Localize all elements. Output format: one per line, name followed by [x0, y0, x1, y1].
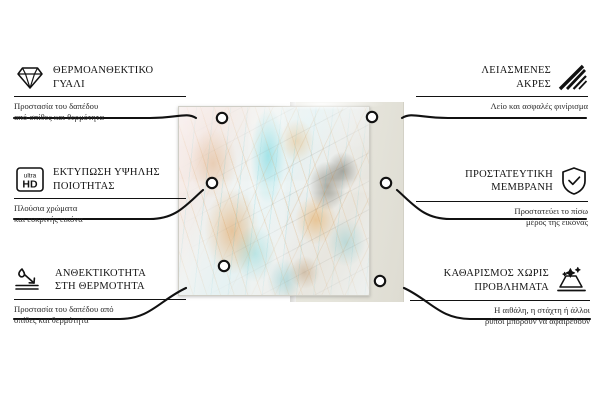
feature-right-3: ΚΑΘΑΡΙΣΜΟΣ ΧΩΡΙΣ ΠΡΟΒΛΗΜΑΤΑ Η αιθάλη, η … [410, 266, 590, 327]
ultra-hd-icon: ultra HD [14, 166, 46, 193]
feature-right-3-description: Η αιθάλη, η στάχτη ή άλλοι ρύποι μπορούν… [410, 305, 590, 327]
feature-right-2: ΠΡΟΣΤΑΤΕΥΤΙΚΗ ΜΕΜΒΡΑΝΗ Προστατεύει το πί… [416, 166, 588, 228]
feature-right-3-header: ΚΑΘΑΡΙΣΜΟΣ ΧΩΡΙΣ ΠΡΟΒΛΗΜΑΤΑ [410, 266, 590, 295]
feature-left-1-header: ΘΕΡΜΟΑΝΘΕΚΤΙΚΟ ΓΥΑΛΙ [14, 64, 186, 91]
feature-right-1-rule [416, 96, 588, 97]
feature-right-2-title: ΠΡΟΣΤΑΤΕΥΤΙΚΗ ΜΕΜΒΡΑΝΗ [465, 168, 553, 195]
feature-right-2-header: ΠΡΟΣΤΑΤΕΥΤΙΚΗ ΜΕΜΒΡΑΝΗ [416, 166, 588, 196]
feature-right-3-title: ΚΑΘΑΡΙΣΜΟΣ ΧΩΡΙΣ ΠΡΟΒΛΗΜΑΤΑ [444, 267, 549, 294]
feature-left-3-header: ΑΝΘΕΚΤΙΚΟΤΗΤΑ ΣΤΗ ΘΕΡΜΟΤΗΤΑ [14, 266, 186, 294]
glass-panel [178, 106, 370, 296]
feature-left-2-title: ΕΚΤΥΠΩΣΗ ΥΨΗΛΗΣ ΠΟΙΟΤΗΤΑΣ [53, 166, 160, 193]
feature-left-2-header: ultra HD ΕΚΤΥΠΩΣΗ ΥΨΗΛΗΣ ΠΟΙΟΤΗΤΑΣ [14, 166, 186, 193]
feature-left-2-rule [14, 198, 186, 199]
feature-left-2: ultra HD ΕΚΤΥΠΩΣΗ ΥΨΗΛΗΣ ΠΟΙΟΤΗΤΑΣ Πλούσ… [14, 166, 186, 225]
light-highlight [210, 96, 390, 112]
feature-left-1: ΘΕΡΜΟΑΝΘΕΚΤΙΚΟ ΓΥΑΛΙ Προστασία του δαπέδ… [14, 64, 186, 123]
feature-left-3-description: Προστασία του δαπέδου από σπίθες και θερ… [14, 304, 186, 326]
feature-right-2-description: Προστατεύει το πίσω μέρος της εικόνας [416, 206, 588, 228]
feature-left-3-title: ΑΝΘΕΚΤΙΚΟΤΗΤΑ ΣΤΗ ΘΕΡΜΟΤΗΤΑ [55, 267, 146, 294]
feature-right-1-title: ΛΕΙΑΣΜΕΝΕΣ ΑΚΡΕΣ [481, 64, 551, 91]
polished-edges-icon [558, 64, 588, 91]
feature-right-1-description: Λείο και ασφαλές φινίρισμα [416, 101, 588, 112]
feature-right-1: ΛΕΙΑΣΜΕΝΕΣ ΑΚΡΕΣ Λείο και ασφαλές φινίρι… [416, 64, 588, 112]
feature-right-1-header: ΛΕΙΑΣΜΕΝΕΣ ΑΚΡΕΣ [416, 64, 588, 91]
infographic-canvas: ΘΕΡΜΟΑΝΘΕΚΤΙΚΟ ΓΥΑΛΙ Προστασία του δαπέδ… [0, 0, 600, 400]
feature-left-3-rule [14, 299, 186, 300]
feature-right-3-rule [410, 300, 590, 301]
easy-clean-sparkle-icon [556, 266, 590, 295]
ultra-hd-icon-bottom-label: HD [22, 179, 38, 191]
feature-left-3: ΑΝΘΕΚΤΙΚΟΤΗΤΑ ΣΤΗ ΘΕΡΜΟΤΗΤΑ Προστασία το… [14, 266, 186, 326]
feature-left-1-description: Προστασία του δαπέδου από σπίθες και θερ… [14, 101, 186, 123]
product-image [178, 104, 403, 302]
feature-left-1-rule [14, 96, 186, 97]
shield-check-icon [560, 166, 588, 196]
heat-resistance-icon [14, 266, 48, 294]
feature-right-2-rule [416, 201, 588, 202]
diamond-icon [14, 65, 46, 91]
connector-right-1 [402, 115, 586, 118]
feature-left-2-description: Πλούσια χρώματα και ευκρινής εικόνα [14, 203, 186, 225]
glass-reflection [179, 107, 369, 295]
feature-left-1-title: ΘΕΡΜΟΑΝΘΕΚΤΙΚΟ ΓΥΑΛΙ [53, 64, 153, 91]
